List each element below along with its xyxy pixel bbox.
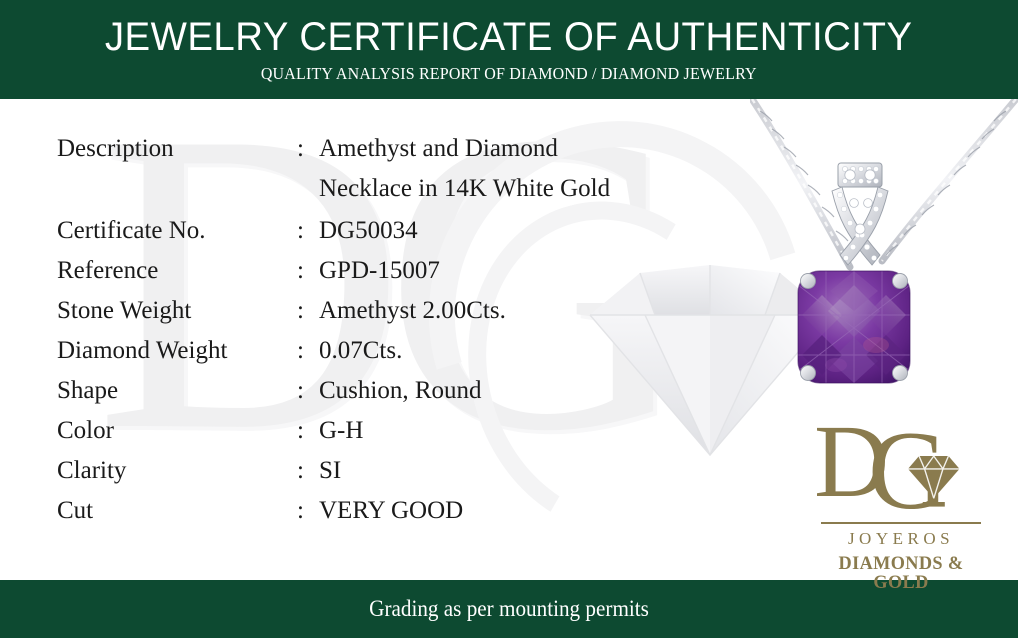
detail-label: Stone Weight <box>57 298 297 323</box>
detail-colon: : <box>297 338 319 363</box>
detail-label: Description <box>57 136 297 161</box>
detail-colon: : <box>297 258 319 283</box>
logo-monogram-mark: D G <box>812 412 990 520</box>
table-row: Diamond Weight : 0.07Cts. <box>57 338 610 378</box>
detail-label: Diamond Weight <box>57 338 297 363</box>
detail-value: Amethyst and Diamond <box>319 136 558 161</box>
detail-colon: : <box>297 218 319 243</box>
detail-colon: : <box>297 298 319 323</box>
table-row: Color : G-H <box>57 418 610 458</box>
jewelry-certificate: DG DG <box>0 0 1018 638</box>
detail-value: 0.07Cts. <box>319 338 402 363</box>
brand-logo: D G JOYEROS DIAMONDS & GOLD <box>812 412 990 592</box>
dg-monogram-icon: D G <box>812 412 990 520</box>
detail-label: Cut <box>57 498 297 523</box>
detail-label: Color <box>57 418 297 443</box>
table-row: Shape : Cushion, Round <box>57 378 610 418</box>
logo-divider <box>821 522 981 524</box>
necklace-chain <box>752 99 1016 267</box>
detail-value: GPD-15007 <box>319 258 440 283</box>
table-row: Stone Weight : Amethyst 2.00Cts. <box>57 298 610 338</box>
footer-note: Grading as per mounting permits <box>369 596 649 622</box>
detail-colon: : <box>297 498 319 523</box>
certificate-details-table: Description : Amethyst and Diamond Neckl… <box>57 136 610 538</box>
detail-label: Shape <box>57 378 297 403</box>
detail-value: DG50034 <box>319 218 418 243</box>
table-row: Necklace in 14K White Gold <box>57 176 610 218</box>
detail-value: Amethyst 2.00Cts. <box>319 298 506 323</box>
detail-colon: : <box>297 378 319 403</box>
logo-tagline: DIAMONDS & GOLD <box>816 554 987 592</box>
detail-colon: : <box>297 418 319 443</box>
amethyst-gemstone <box>798 271 910 383</box>
table-row: Certificate No. : DG50034 <box>57 218 610 258</box>
detail-value: G-H <box>319 418 363 443</box>
table-row: Reference : GPD-15007 <box>57 258 610 298</box>
table-row: Clarity : SI <box>57 458 610 498</box>
detail-label: Clarity <box>57 458 297 483</box>
table-row: Description : Amethyst and Diamond <box>57 136 610 176</box>
detail-value: VERY GOOD <box>319 498 463 523</box>
detail-colon: : <box>297 136 319 161</box>
table-row: Cut : VERY GOOD <box>57 498 610 538</box>
logo-brand-name: JOYEROS <box>812 530 990 547</box>
page-title: JEWELRY CERTIFICATE OF AUTHENTICITY <box>105 17 913 57</box>
certificate-header: JEWELRY CERTIFICATE OF AUTHENTICITY QUAL… <box>0 0 1018 99</box>
detail-colon: : <box>297 458 319 483</box>
detail-label: Reference <box>57 258 297 283</box>
detail-value: SI <box>319 458 341 483</box>
detail-label: Certificate No. <box>57 218 297 243</box>
amethyst-diamond-necklace-photo <box>750 99 1018 399</box>
detail-value: Cushion, Round <box>319 378 482 403</box>
detail-value: Necklace in 14K White Gold <box>319 176 610 201</box>
pendant-bail <box>838 163 882 187</box>
page-subtitle: QUALITY ANALYSIS REPORT OF DIAMOND / DIA… <box>261 65 757 82</box>
